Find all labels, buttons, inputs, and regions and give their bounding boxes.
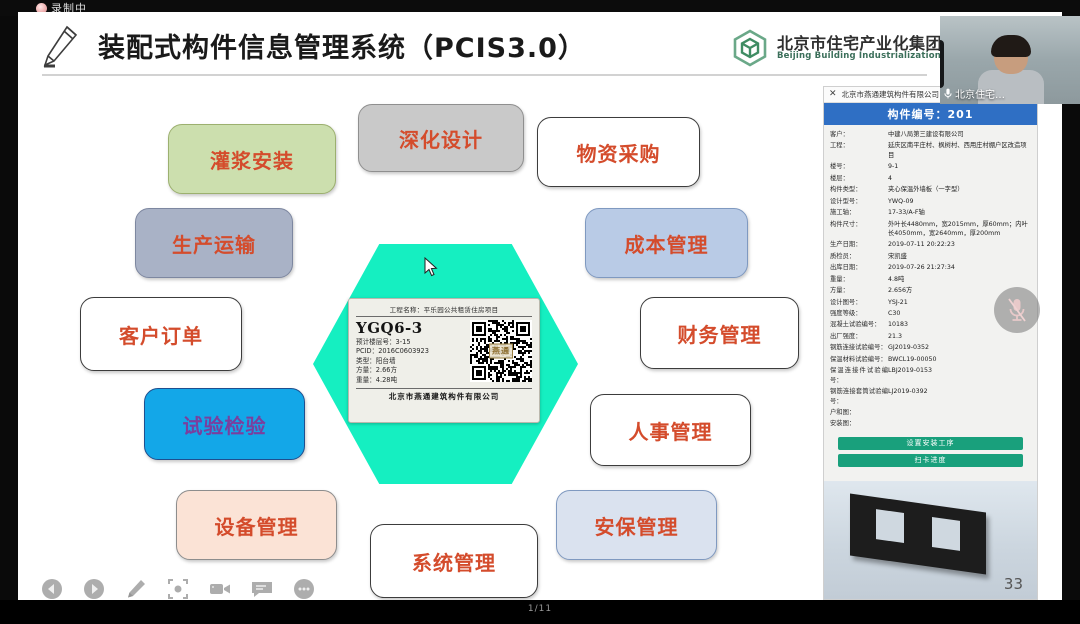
- close-icon[interactable]: ✕: [829, 90, 837, 99]
- microphone-icon: [944, 88, 952, 99]
- qr-center-label: 燕通: [489, 344, 513, 359]
- module-node-label: 物资采购: [577, 138, 661, 167]
- detail-field-value: 9-1: [888, 162, 1031, 171]
- component-number-label: 构件编号：201: [888, 106, 974, 122]
- detail-field-key: 设计图号：: [830, 298, 888, 307]
- module-node[interactable]: 系统管理: [370, 524, 538, 598]
- pen-annotate-icon[interactable]: [124, 577, 148, 601]
- module-node-label: 安保管理: [595, 511, 679, 540]
- component-detail-fields: 客户：中建八局第三建设有限公司工程：延庆区南平庄村、枫树村、西用庄村棚户区改造项…: [824, 125, 1037, 433]
- detail-field-key: 户和图：: [830, 408, 888, 417]
- detail-field-value: 2019-07-11 20:22:23: [888, 240, 1031, 249]
- detail-field-key: 设计型号：: [830, 197, 888, 206]
- component-3d-photo: 33: [824, 481, 1037, 599]
- detail-field-value: 4: [888, 174, 1031, 183]
- detail-field-row: 设计型号：YWQ-09: [830, 197, 1031, 206]
- brand-name-cn: 北京市住宅产业化集团: [777, 35, 942, 52]
- card-detail-line: 重量：4.28吨: [356, 376, 466, 386]
- app-action-buttons[interactable]: 设置安装工序扫卡进度: [824, 437, 1037, 467]
- module-node-label: 设备管理: [215, 511, 299, 540]
- microphone-muted-icon[interactable]: [994, 287, 1040, 333]
- module-node-label: 试验检验: [183, 410, 267, 439]
- detail-field-value: BWCL19-00050: [888, 355, 1031, 364]
- qr-code: 燕通: [470, 320, 532, 382]
- chair-shape: [940, 40, 944, 88]
- detail-field-value: GJ2019-0352: [888, 343, 1031, 352]
- card-detail-line: 预计楼层号：3-15: [356, 338, 466, 348]
- detail-field-row: 生产日期：2019-07-11 20:22:23: [830, 240, 1031, 249]
- chat-icon[interactable]: [250, 577, 274, 601]
- app-header-bar: 构件编号：201: [824, 103, 1037, 125]
- card-detail-line: 类型：阳台墙: [356, 357, 466, 367]
- detail-field-row: 楼层：4: [830, 174, 1031, 183]
- detail-field-key: 重量：: [830, 275, 888, 284]
- module-node-label: 灌浆安装: [210, 145, 294, 174]
- module-node[interactable]: 生产运输: [135, 208, 293, 278]
- module-node[interactable]: 物资采购: [537, 117, 700, 187]
- detail-field-key: 工程：: [830, 141, 888, 150]
- detail-field-key: 施工轴：: [830, 208, 888, 217]
- detail-field-key: 钢筋连接试验编号：: [830, 343, 888, 352]
- module-node-label: 深化设计: [399, 124, 483, 153]
- detail-field-row: 施工轴：17-33/A-F轴: [830, 208, 1031, 217]
- detail-field-key: 楼层：: [830, 174, 888, 183]
- module-node[interactable]: 试验检验: [144, 388, 305, 460]
- detail-field-key: 强度等级：: [830, 309, 888, 318]
- module-node[interactable]: 人事管理: [590, 394, 751, 466]
- detail-field-row: 客户：中建八局第三建设有限公司: [830, 130, 1031, 139]
- detail-field-row: 工程：延庆区南平庄村、枫树村、西用庄村棚户区改造项目: [830, 141, 1031, 160]
- module-node-label: 成本管理: [625, 229, 709, 258]
- app-action-button[interactable]: 设置安装工序: [838, 437, 1023, 450]
- detail-field-row: 钢筋连接试验编号：GJ2019-0352: [830, 343, 1031, 352]
- card-company-name: 北京市燕通建筑构件有限公司: [356, 388, 532, 402]
- module-node-label: 生产运输: [172, 229, 256, 258]
- page-indicator: 1/11: [0, 604, 1080, 614]
- detail-field-value: YWQ-09: [888, 197, 1031, 206]
- pencil-icon: [40, 24, 80, 68]
- detail-field-key: 质检员：: [830, 252, 888, 261]
- detail-field-key: 钢筋连接套筒试验编号：: [830, 387, 888, 406]
- webcam-overlay[interactable]: 北京住宅…: [940, 16, 1080, 104]
- detail-field-row: 户和图：: [830, 408, 1031, 417]
- wall-panel-model: [850, 493, 986, 574]
- detail-field-value: 宋凯盛: [888, 252, 1031, 261]
- detail-field-key: 保温连接件试验编号：: [830, 366, 888, 385]
- detail-field-value: 17-33/A-F轴: [888, 208, 1031, 217]
- module-node-label: 人事管理: [629, 416, 713, 445]
- detail-field-row: 安装图：: [830, 419, 1031, 428]
- more-options-icon[interactable]: [292, 577, 316, 601]
- module-node[interactable]: 灌浆安装: [168, 124, 336, 194]
- module-node[interactable]: 客户订单: [80, 297, 242, 371]
- module-node-label: 系统管理: [412, 547, 496, 576]
- detail-field-key: 安装图：: [830, 419, 888, 428]
- app-window-title: 北京市燕通建筑构件有限公司: [842, 89, 940, 100]
- module-node[interactable]: 安保管理: [556, 490, 717, 560]
- detail-field-key: 出厂强度：: [830, 332, 888, 341]
- mobile-app-screenshot: ✕ 北京市燕通建筑构件有限公司 构件编号：201 客户：中建八局第三建设有限公司…: [823, 86, 1038, 600]
- detail-field-row: 构件尺寸：外叶长4480mm，宽2015mm，厚60mm；内叶长4050mm，宽…: [830, 220, 1031, 239]
- detail-field-key: 混凝土试验编号：: [830, 320, 888, 329]
- detail-field-row: 楼号：9-1: [830, 162, 1031, 171]
- module-node-label: 财务管理: [678, 319, 762, 348]
- previous-slide-icon[interactable]: [40, 577, 64, 601]
- detail-field-key: 保温材料试验编号：: [830, 355, 888, 364]
- detail-field-value: 2019-07-26 21:27:34: [888, 263, 1031, 272]
- detail-field-value: 延庆区南平庄村、枫树村、西用庄村棚户区改造项目: [888, 141, 1031, 160]
- component-label-card: 工程名称：平乐园公共租赁住房项目 YGQ6-3 预计楼层号：3-15PCID：2…: [348, 298, 540, 423]
- detail-field-row: 出库日期：2019-07-26 21:27:34: [830, 263, 1031, 272]
- detail-field-key: 构件尺寸：: [830, 220, 888, 229]
- detail-field-key: 楼号：: [830, 162, 888, 171]
- detail-field-key: 出库日期：: [830, 263, 888, 272]
- detail-field-key: 方量：: [830, 286, 888, 295]
- module-node[interactable]: 成本管理: [585, 208, 748, 278]
- detail-field-row: 保温材料试验编号：BWCL19-00050: [830, 355, 1031, 364]
- brand-name-en: Beijing Building Industrialization: [777, 52, 942, 61]
- detail-field-value: LBJ2019-0153: [888, 366, 1031, 375]
- laser-pointer-icon[interactable]: [166, 577, 190, 601]
- presentation-screen: 录制中 装配式构件信息管理系统（PCIS3.0）: [0, 0, 1080, 624]
- webcam-speaker-name: 北京住宅…: [955, 86, 1005, 101]
- card-detail-line: PCID：2016C0603923: [356, 347, 466, 357]
- card-component-code: YGQ6-3: [356, 320, 466, 337]
- card-detail-lines: 预计楼层号：3-15PCID：2016C0603923类型：阳台墙方量：2.66…: [356, 338, 466, 386]
- detail-field-key: 构件类型：: [830, 185, 888, 194]
- card-detail-line: 方量：2.66方: [356, 366, 466, 376]
- detail-field-value: LJ2019-0392: [888, 387, 1031, 396]
- module-node[interactable]: 深化设计: [358, 104, 524, 172]
- card-project-line: 工程名称：平乐园公共租赁住房项目: [356, 304, 532, 317]
- play-icon[interactable]: [82, 577, 106, 601]
- page-title: 装配式构件信息管理系统（PCIS3.0）: [98, 26, 586, 65]
- detail-field-key: 生产日期：: [830, 240, 888, 249]
- detail-field-value: 外叶长4480mm，宽2015mm，厚60mm；内叶长4050mm，宽2640m…: [888, 220, 1031, 239]
- detail-field-key: 客户：: [830, 130, 888, 139]
- detail-field-row: 重量：4.8吨: [830, 275, 1031, 284]
- detail-field-row: 钢筋连接套筒试验编号：LJ2019-0392: [830, 387, 1031, 406]
- webcam-name-label: 北京住宅…: [944, 86, 1005, 101]
- module-node[interactable]: 财务管理: [640, 297, 799, 369]
- detail-field-value: 中建八局第三建设有限公司: [888, 130, 1031, 139]
- detail-field-row: 质检员：宋凯盛: [830, 252, 1031, 261]
- detail-field-value: 夹心保温外墙板（一字型）: [888, 185, 1031, 194]
- detail-field-value: 21.3: [888, 332, 1031, 341]
- slide-header: 装配式构件信息管理系统（PCIS3.0） 北京市住宅产业化集团 Beijing …: [18, 16, 1062, 74]
- detail-field-row: 构件类型：夹心保温外墙板（一字型）: [830, 185, 1031, 194]
- title-divider: [42, 74, 927, 76]
- detail-field-row: 保温连接件试验编号：LBJ2019-0153: [830, 366, 1031, 385]
- detail-field-value: 4.8吨: [888, 275, 1031, 284]
- slide-page-number: 33: [1004, 575, 1023, 593]
- module-node-label: 客户订单: [119, 320, 203, 349]
- app-action-button[interactable]: 扫卡进度: [838, 454, 1023, 467]
- module-node[interactable]: 设备管理: [176, 490, 337, 560]
- cube-logo-icon: [730, 28, 770, 68]
- brand-logo: 北京市住宅产业化集团 Beijing Building Industrializ…: [730, 28, 942, 68]
- video-camera-icon[interactable]: [208, 577, 232, 601]
- detail-field-row: 出厂强度：21.3: [830, 332, 1031, 341]
- brand-text: 北京市住宅产业化集团 Beijing Building Industrializ…: [777, 35, 942, 61]
